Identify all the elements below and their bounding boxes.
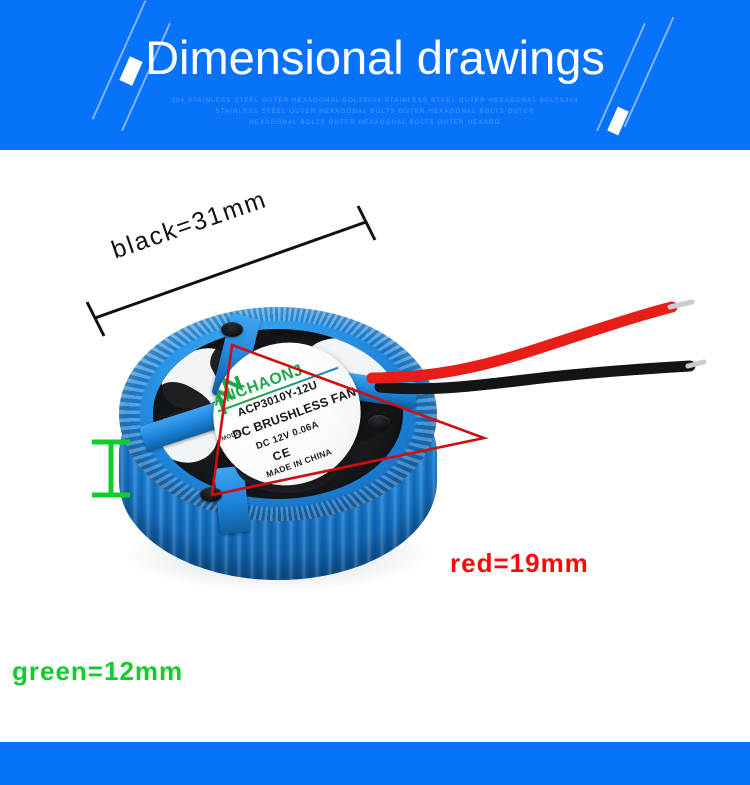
page-title: Dimensional drawings	[0, 30, 750, 86]
product-photo-area: ANCHAONJ MODEL ACP3010Y-12U DC BRUSHLESS…	[0, 150, 750, 742]
header-subtitle: 304 STAINLESS STEEL OUTER HEXAGONAL BOLT…	[0, 95, 750, 128]
footer-bar	[0, 742, 750, 785]
header-subtitle-line-1: 304 STAINLESS STEEL OUTER HEXAGONAL BOLT…	[0, 95, 750, 106]
green-dimension-label: green=12mm	[12, 656, 183, 687]
red-mounting-triangle	[212, 345, 484, 495]
header-banner: Dimensional drawings 304 STAINLESS STEEL…	[0, 0, 750, 150]
red-dimension-label: red=19mm	[450, 548, 589, 579]
header-subtitle-line-2: STAINLESS STEEL OUTER HEXAGONAL BOLTS OU…	[0, 106, 750, 117]
green-dimension-marker	[92, 442, 130, 495]
header-subtitle-line-3: HEXAGONAL BOLTS OUTER HEXAGONAL BOLTS OU…	[0, 117, 750, 128]
